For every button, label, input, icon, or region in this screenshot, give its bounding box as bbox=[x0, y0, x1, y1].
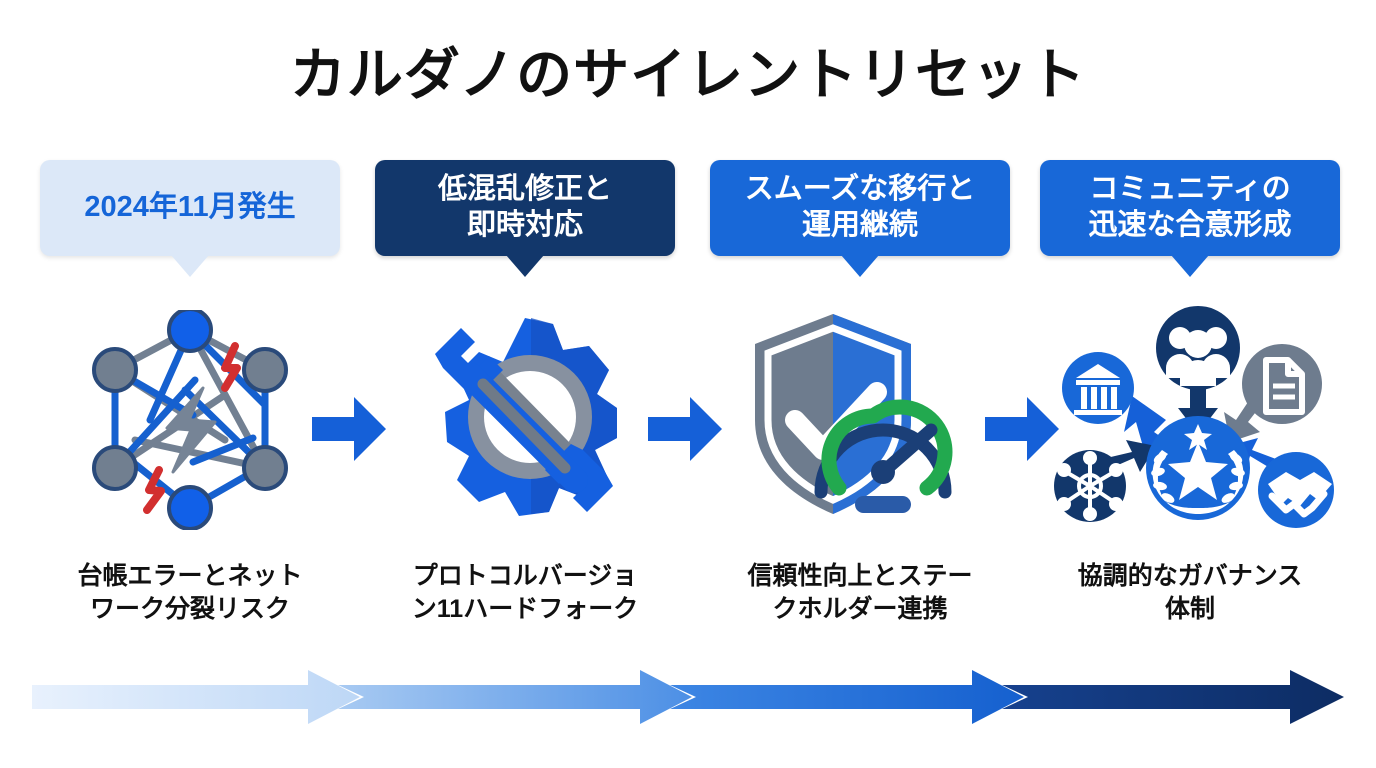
timeline-segment bbox=[1002, 670, 1344, 724]
step-caption-2: プロトコルバージョ ン11ハードフォーク bbox=[365, 560, 685, 626]
step-caption-2-line-2: ン11ハードフォーク bbox=[365, 593, 685, 626]
bank-icon bbox=[1062, 352, 1134, 424]
document-icon bbox=[1242, 344, 1322, 424]
timeline-segment bbox=[670, 670, 1024, 724]
consensus-emblem-icon bbox=[1146, 416, 1250, 520]
step-caption-3: 信頼性向上とステー クホルダー連携 bbox=[700, 560, 1020, 626]
network-node-icon bbox=[1054, 450, 1126, 522]
progression-timeline bbox=[32, 668, 1344, 726]
step-caption-1-line-1: 台帳エラーとネット bbox=[30, 560, 350, 593]
step-caption-4-line-2: 体制 bbox=[1030, 593, 1350, 626]
arrow-step1-to-step2 bbox=[312, 395, 386, 463]
step-caption-4: 協調的なガバナンス 体制 bbox=[1030, 560, 1350, 626]
step-icon-1-wrap bbox=[40, 300, 340, 540]
step-icon-2-wrap bbox=[375, 300, 675, 540]
step-label-4-line-1: コミュニティの bbox=[1089, 172, 1290, 207]
step-caption-1: 台帳エラーとネット ワーク分裂リスク bbox=[30, 560, 350, 626]
step-column-4: コミュニティの 迅速な合意形成 bbox=[1040, 160, 1340, 660]
arrow-step3-to-step4 bbox=[985, 395, 1059, 463]
step-label-2-line-2: 即時対応 bbox=[467, 208, 583, 243]
step-label-3-line-2: 運用継続 bbox=[802, 208, 918, 243]
step-caption-1-line-2: ワーク分裂リスク bbox=[30, 593, 350, 626]
step-label-2-line-1: 低混乱修正と bbox=[438, 172, 612, 207]
step-column-2: 低混乱修正と 即時対応 bbox=[375, 160, 675, 660]
arrow-step2-to-step3 bbox=[648, 395, 722, 463]
step-label-1: 2024年11月発生 bbox=[40, 160, 340, 256]
step-label-4: コミュニティの 迅速な合意形成 bbox=[1040, 160, 1340, 256]
network-fracture-icon bbox=[75, 310, 305, 530]
step-label-4-line-2: 迅速な合意形成 bbox=[1088, 208, 1291, 243]
timeline-segment bbox=[32, 670, 360, 724]
step-caption-3-line-1: 信頼性向上とステー bbox=[700, 560, 1020, 593]
step-label-2: 低混乱修正と 即時対応 bbox=[375, 160, 675, 256]
governance-consensus-icon bbox=[1040, 300, 1340, 540]
timeline-segment bbox=[338, 670, 692, 724]
page-title: カルダノのサイレントリセット bbox=[0, 44, 1376, 106]
step-label-3: スムーズな移行と 運用継続 bbox=[710, 160, 1010, 256]
step-caption-4-line-1: 協調的なガバナンス bbox=[1030, 560, 1350, 593]
step-icon-3-wrap bbox=[710, 300, 1010, 540]
step-column-1: 2024年11月発生 bbox=[40, 160, 340, 660]
people-icon bbox=[1156, 306, 1240, 390]
step-label-1-line-1: 2024年11月発生 bbox=[84, 190, 295, 225]
shield-check-gauge-icon bbox=[743, 308, 978, 533]
step-caption-2-line-1: プロトコルバージョ bbox=[365, 560, 685, 593]
step-label-3-line-1: スムーズな移行と bbox=[745, 172, 976, 207]
gear-wrench-icon bbox=[413, 310, 638, 530]
step-caption-3-line-2: クホルダー連携 bbox=[700, 593, 1020, 626]
step-column-3: スムーズな移行と 運用継続 bbox=[710, 160, 1010, 660]
step-icon-4-wrap bbox=[1040, 300, 1340, 540]
handshake-icon bbox=[1258, 452, 1334, 528]
